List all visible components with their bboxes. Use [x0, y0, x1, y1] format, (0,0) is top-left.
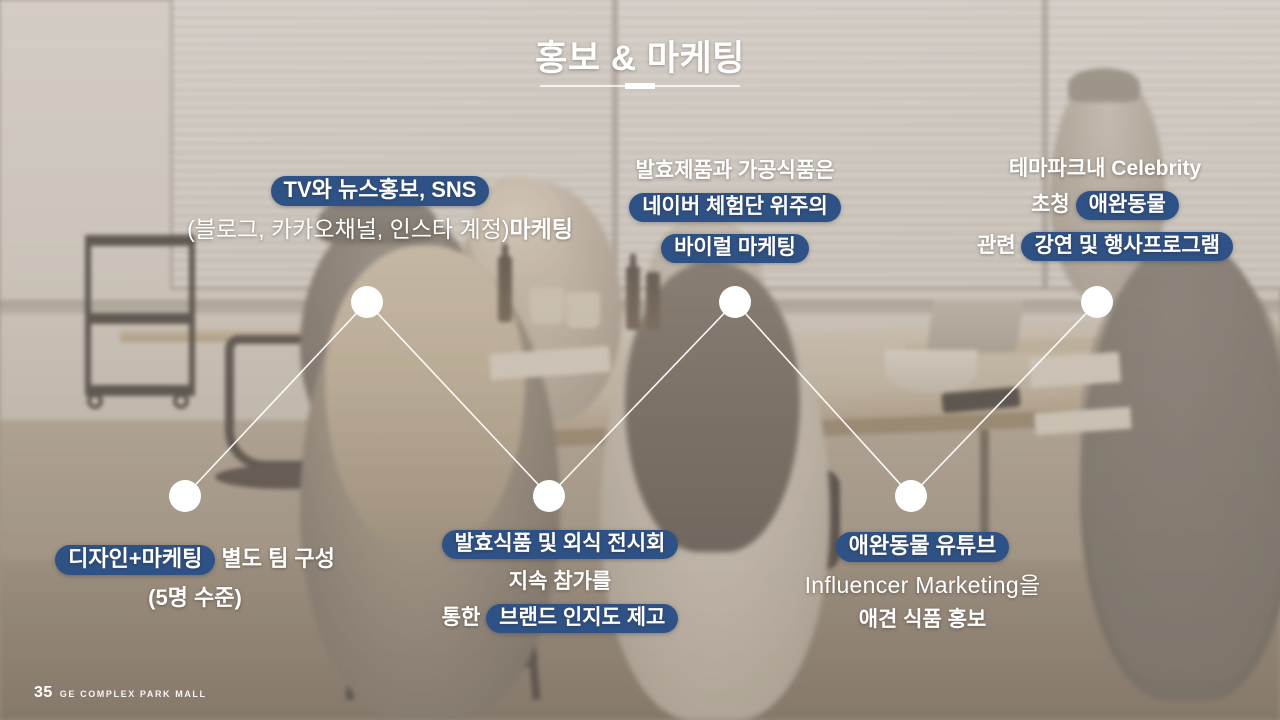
line-prefix: 통한 — [442, 606, 486, 629]
highlight-pill: 네이버 체험단 위주의 — [629, 193, 841, 222]
block-pet-youtube-line-3: 애견 식품 홍보 — [775, 609, 1070, 630]
line-emphasis: 마케팅 — [509, 216, 572, 242]
footer: 35 GE COMPLEX PARK MALL — [34, 684, 207, 702]
highlight-pill: 발효식품 및 외식 전시회 — [442, 530, 679, 559]
line-text: 지속 참가를 — [509, 570, 611, 593]
block-exhibition-line-1: 발효식품 및 외식 전시회 — [430, 530, 690, 559]
brand-label: GE COMPLEX PARK MALL — [60, 689, 207, 699]
block-design-team-line-2: (5명 수준) — [30, 587, 360, 609]
node-4[interactable] — [719, 286, 751, 318]
line-suffix: 별도 팀 구성 — [215, 546, 335, 571]
slide-content: 홍보 & 마케팅 TV와 뉴스홍보, SNS (블로그, 카카오채널, 인스타 … — [0, 0, 1280, 720]
block-pet-youtube-line-1: 애완동물 유튜브 — [775, 532, 1070, 562]
node-6[interactable] — [1081, 286, 1113, 318]
line-text: 애견 식품 홍보 — [859, 608, 987, 631]
block-fermented: 발효제품과 가공식품은 네이버 체험단 위주의 바이럴 마케팅 — [600, 160, 870, 263]
block-celebrity-line-3: 관련 강연 및 행사프로그램 — [960, 232, 1250, 261]
highlight-pill: TV와 뉴스홍보, SNS — [271, 176, 490, 206]
page-number: 35 — [34, 684, 53, 702]
block-design-team: 디자인+마케팅 별도 팀 구성 (5명 수준) — [30, 545, 360, 609]
highlight-pill: 강연 및 행사프로그램 — [1021, 232, 1233, 261]
block-celebrity-line-2: 초청 애완동물 — [960, 191, 1250, 220]
block-fermented-line-3: 바이럴 마케팅 — [600, 234, 870, 263]
block-tv-news-line-1: TV와 뉴스홍보, SNS — [185, 176, 575, 206]
block-exhibition-line-3: 통한 브랜드 인지도 제고 — [430, 604, 690, 633]
node-5[interactable] — [895, 480, 927, 512]
node-1[interactable] — [169, 480, 201, 512]
highlight-pill: 애완동물 유튜브 — [836, 532, 1010, 562]
slide-root: 홍보 & 마케팅 TV와 뉴스홍보, SNS (블로그, 카카오채널, 인스타 … — [0, 0, 1280, 720]
node-3[interactable] — [533, 480, 565, 512]
block-pet-youtube-line-2: Influencer Marketing을 — [775, 574, 1070, 597]
connector-path — [185, 302, 1097, 496]
block-fermented-line-1: 발효제품과 가공식품은 — [600, 160, 870, 181]
line-prefix: 관련 — [977, 234, 1021, 257]
line-text: 발효제품과 가공식품은 — [635, 159, 834, 182]
line-prefix: 초청 — [1031, 193, 1075, 216]
highlight-pill: 디자인+마케팅 — [55, 545, 215, 575]
block-celebrity: 테마파크내 Celebrity 초청 애완동물 관련 강연 및 행사프로그램 — [960, 158, 1250, 261]
block-exhibition: 발효식품 및 외식 전시회 지속 참가를 통한 브랜드 인지도 제고 — [430, 530, 690, 633]
line-text: 테마파크내 Celebrity — [1009, 157, 1201, 180]
highlight-pill: 애완동물 — [1076, 191, 1179, 220]
block-tv-news: TV와 뉴스홍보, SNS (블로그, 카카오채널, 인스타 계정)마케팅 — [185, 176, 575, 241]
highlight-pill: 브랜드 인지도 제고 — [486, 604, 678, 633]
block-fermented-line-2: 네이버 체험단 위주의 — [600, 193, 870, 222]
line-text: (5명 수준) — [148, 585, 242, 610]
node-2[interactable] — [351, 286, 383, 318]
block-tv-news-line-2: (블로그, 카카오채널, 인스타 계정)마케팅 — [185, 218, 575, 241]
block-design-team-line-1: 디자인+마케팅 별도 팀 구성 — [30, 545, 360, 575]
highlight-pill: 바이럴 마케팅 — [661, 234, 809, 263]
block-celebrity-line-1: 테마파크내 Celebrity — [960, 158, 1250, 179]
block-pet-youtube: 애완동물 유튜브 Influencer Marketing을 애견 식품 홍보 — [775, 532, 1070, 630]
line-prefix: (블로그, 카카오채널, 인스타 계정) — [187, 216, 509, 242]
block-exhibition-line-2: 지속 참가를 — [430, 571, 690, 592]
